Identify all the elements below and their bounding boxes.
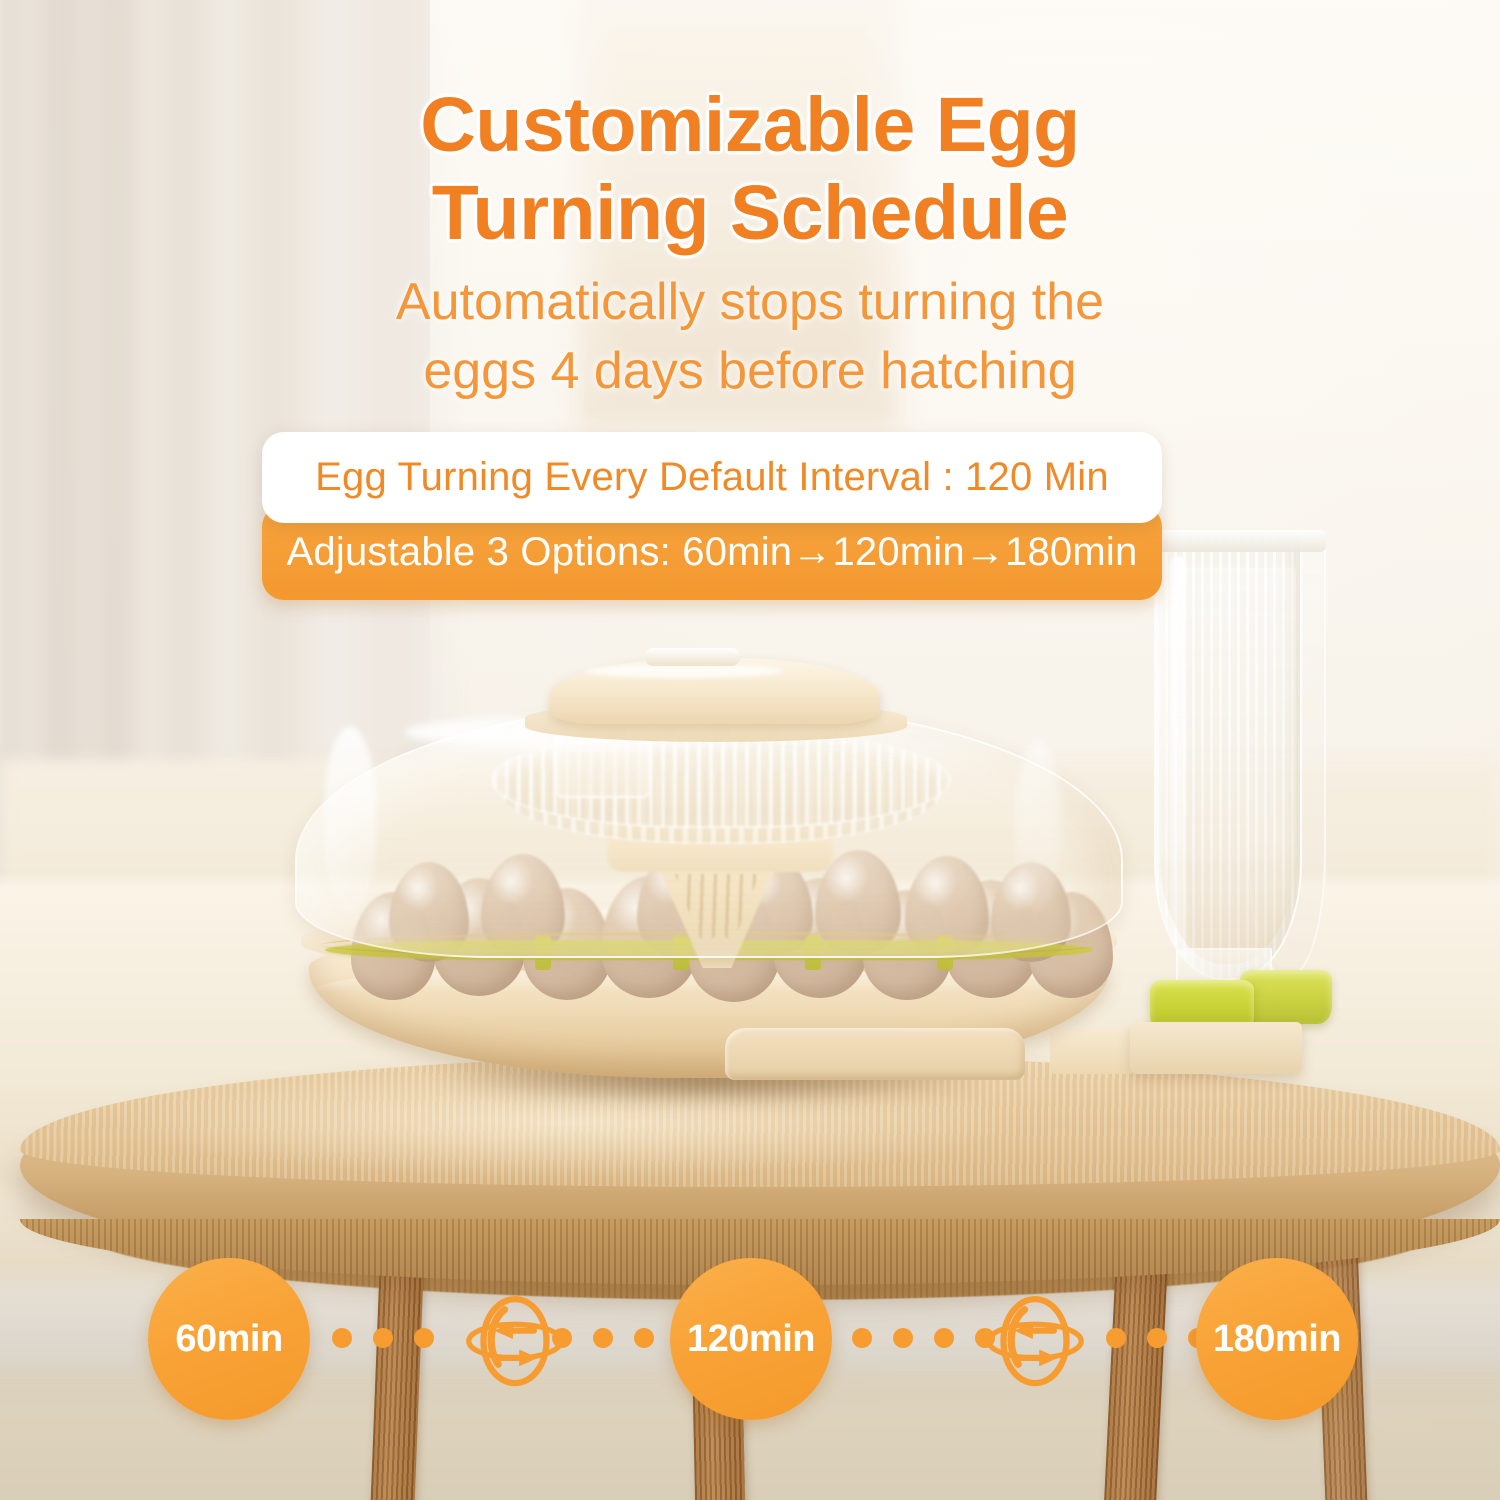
- timeline-step-label: 180min: [1213, 1318, 1341, 1361]
- adjustable-options-label: Adjustable 3 Options: 60min→120min→180mi…: [287, 530, 1138, 575]
- interval-timeline: 60min 120min: [0, 1258, 1500, 1428]
- timeline-dot: [934, 1328, 954, 1348]
- bottle-rim: [1152, 530, 1326, 552]
- subheadline-line-1: Automatically stops turning the: [0, 268, 1500, 337]
- timeline-dot: [373, 1328, 393, 1348]
- bottle-stand: [1130, 1022, 1302, 1074]
- headline-line-2: Turning Schedule: [0, 170, 1500, 258]
- water-bottle-dispenser: [1140, 530, 1340, 1090]
- timeline-dot: [1147, 1328, 1167, 1348]
- dome-highlight: [323, 726, 377, 916]
- default-interval-label: Egg Turning Every Default Interval : 120…: [315, 455, 1109, 500]
- page-title: Customizable Egg Turning Schedule: [0, 82, 1500, 258]
- timeline-dots: [332, 1328, 434, 1348]
- egg-rotation-icon: [972, 1276, 1098, 1402]
- page-subtitle: Automatically stops turning the eggs 4 d…: [0, 268, 1500, 406]
- timeline-step-label: 60min: [175, 1318, 282, 1361]
- headline-line-1: Customizable Egg: [0, 82, 1500, 170]
- incubator-motor-housing: [550, 658, 880, 724]
- egg-incubator: [285, 640, 1125, 1110]
- timeline-dot: [634, 1328, 654, 1348]
- incubator-base-handle: [725, 1028, 1025, 1080]
- dome-highlight: [1015, 740, 1061, 910]
- timeline-dot: [552, 1328, 572, 1348]
- timeline-dot: [852, 1328, 872, 1348]
- product-feature-image: Customizable Egg Turning Schedule Automa…: [0, 0, 1500, 1500]
- timeline-dot: [1106, 1328, 1126, 1348]
- timeline-step-180min: 180min: [1196, 1258, 1358, 1420]
- default-interval-card: Egg Turning Every Default Interval : 120…: [262, 432, 1162, 523]
- timeline-step-60min: 60min: [148, 1258, 310, 1420]
- timeline-dot: [332, 1328, 352, 1348]
- timeline-step-120min: 120min: [670, 1258, 832, 1420]
- timeline-dots: [1106, 1328, 1208, 1348]
- timeline-dot: [893, 1328, 913, 1348]
- timeline-step-label: 120min: [687, 1318, 815, 1361]
- bottle-highlight: [1170, 556, 1186, 946]
- incubator-motor-knob: [645, 648, 740, 666]
- subheadline-line-2: eggs 4 days before hatching: [0, 337, 1500, 406]
- timeline-dot: [414, 1328, 434, 1348]
- timeline-dot: [593, 1328, 613, 1348]
